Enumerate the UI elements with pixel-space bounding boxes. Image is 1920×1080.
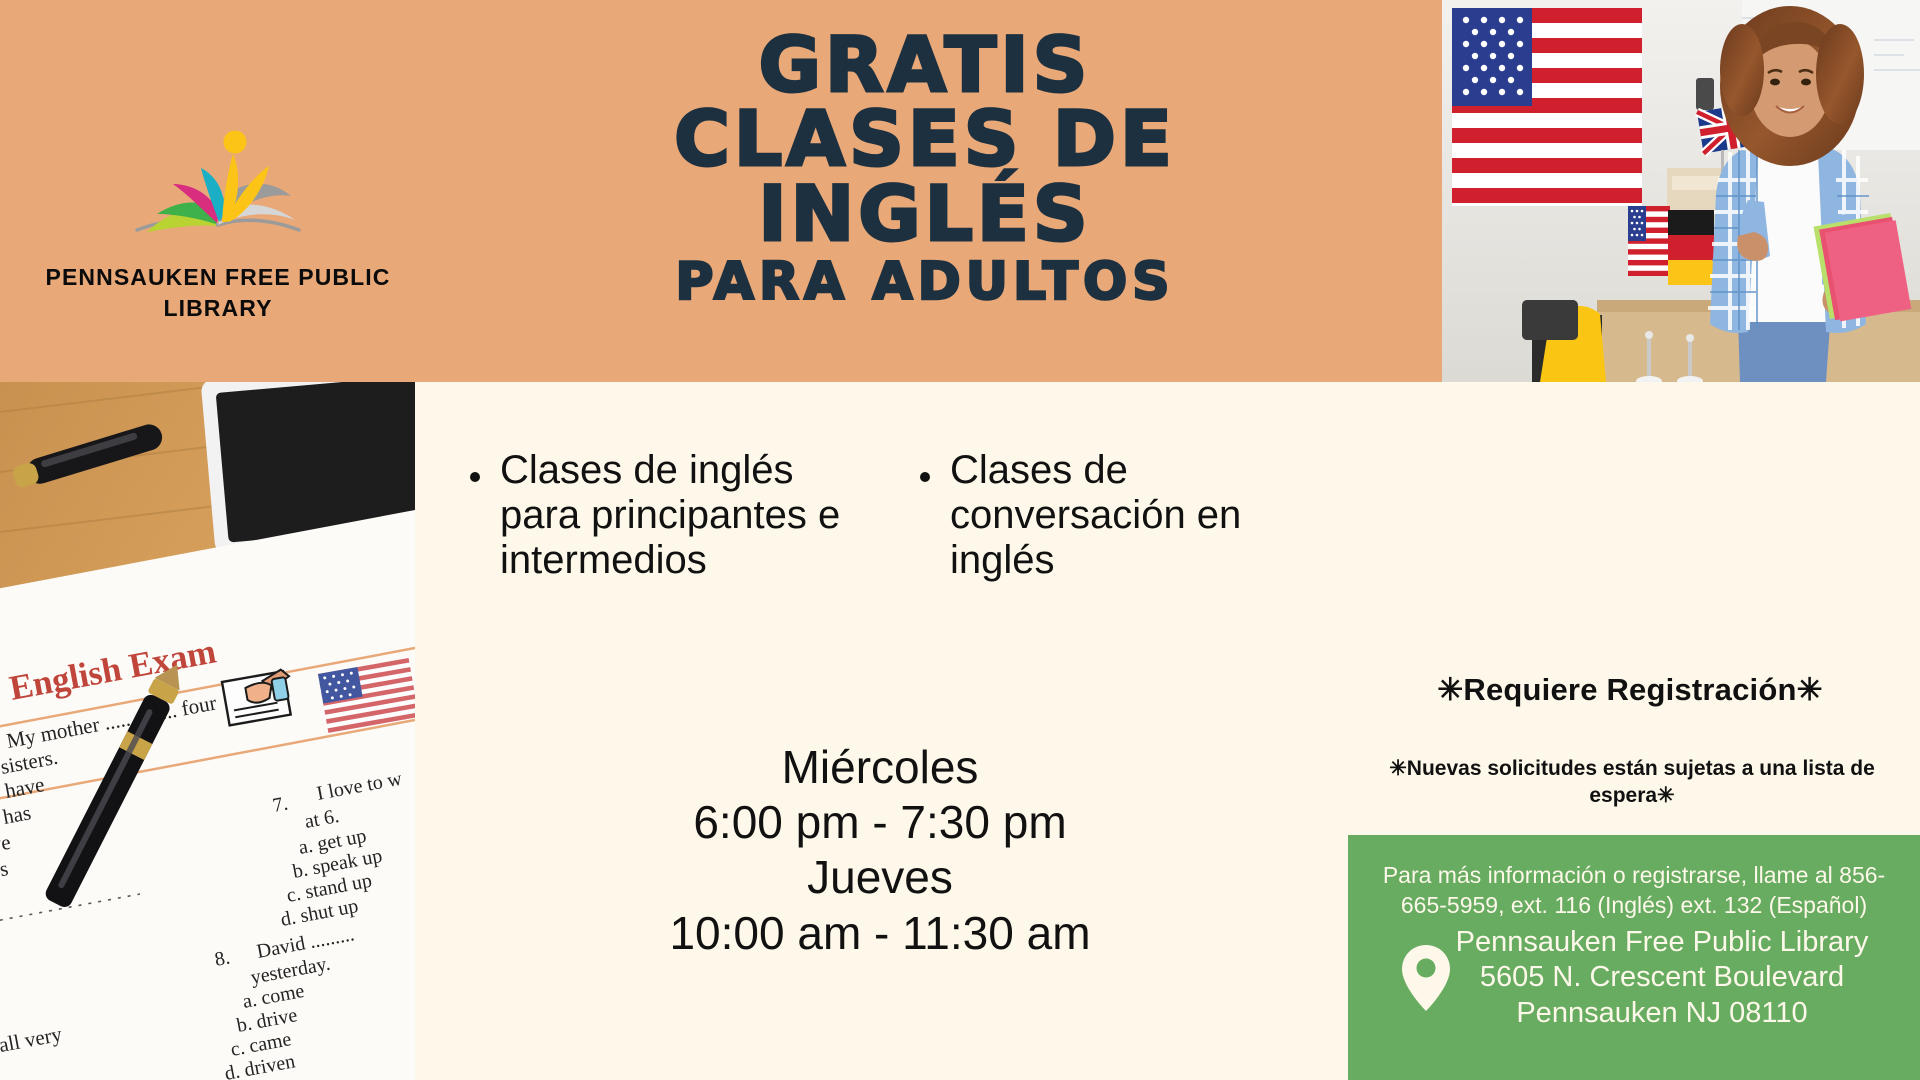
contact-address-lines: Pennsauken Free Public Library 5605 N. C… [1456, 925, 1869, 1031]
english-exam-illustration: English Exam [0, 382, 415, 1080]
classroom-woman-illustration [1442, 0, 1920, 382]
schedule-time-1: 6:00 pm - 7:30 pm [430, 795, 1330, 850]
title-line-ingles: INGLÉS [420, 177, 1430, 251]
title-line-clases: CLASES DE [420, 102, 1430, 176]
library-name-label: PENNSAUKEN FREE PUBLIC LIBRARY [28, 262, 408, 324]
poster-title: GRATIS CLASES DE INGLÉS PARA ADULTOS [420, 28, 1430, 308]
registration-waitlist-note: ✳Nuevas solicitudes están sujetas a una … [1358, 756, 1906, 810]
class-schedule: Miércoles 6:00 pm - 7:30 pm Jueves 10:00… [430, 740, 1330, 961]
schedule-day-1: Miércoles [430, 740, 1330, 795]
address-line-1: Pennsauken Free Public Library [1456, 925, 1869, 960]
bullet-item-2-text: Clases de conversación en inglés [950, 448, 1250, 584]
bullet-dot-icon [920, 472, 930, 482]
contact-address-group: Pennsauken Free Public Library 5605 N. C… [1348, 925, 1920, 1031]
list-item: Clases de inglés para principantes e int… [470, 448, 860, 584]
registration-required-label: ✳Requiere Registración✳ [1380, 672, 1880, 708]
library-logo-block: PENNSAUKEN FREE PUBLIC LIBRARY [28, 118, 408, 324]
address-line-3: Pennsauken NJ 08110 [1456, 996, 1869, 1031]
schedule-time-2: 10:00 am - 11:30 am [430, 906, 1330, 961]
contact-info-box: Para más información o registrarse, llam… [1348, 835, 1920, 1080]
bullet-item-1-text: Clases de inglés para principantes e int… [500, 448, 860, 584]
map-pin-icon [1400, 943, 1452, 1013]
contact-phone-line: Para más información o registrarse, llam… [1348, 835, 1920, 921]
bullet-dot-icon [470, 472, 480, 482]
list-item: Clases de conversación en inglés [920, 448, 1250, 584]
classroom-woman-photo [1442, 0, 1920, 382]
english-exam-photo: English Exam [0, 382, 415, 1080]
title-line-gratis: GRATIS [420, 28, 1430, 102]
poster-root: PENNSAUKEN FREE PUBLIC LIBRARY GRATIS CL… [0, 0, 1920, 1080]
bullet-item-1-column: Clases de inglés para principantes e int… [470, 448, 860, 584]
open-book-with-figure-logo [123, 118, 313, 248]
title-line-adultos: PARA ADULTOS [420, 257, 1430, 308]
class-offerings-list: Clases de inglés para principantes e int… [470, 448, 1370, 584]
bullet-item-2-column: Clases de conversación en inglés [920, 448, 1250, 584]
address-line-2: 5605 N. Crescent Boulevard [1456, 960, 1869, 995]
schedule-day-2: Jueves [430, 850, 1330, 905]
